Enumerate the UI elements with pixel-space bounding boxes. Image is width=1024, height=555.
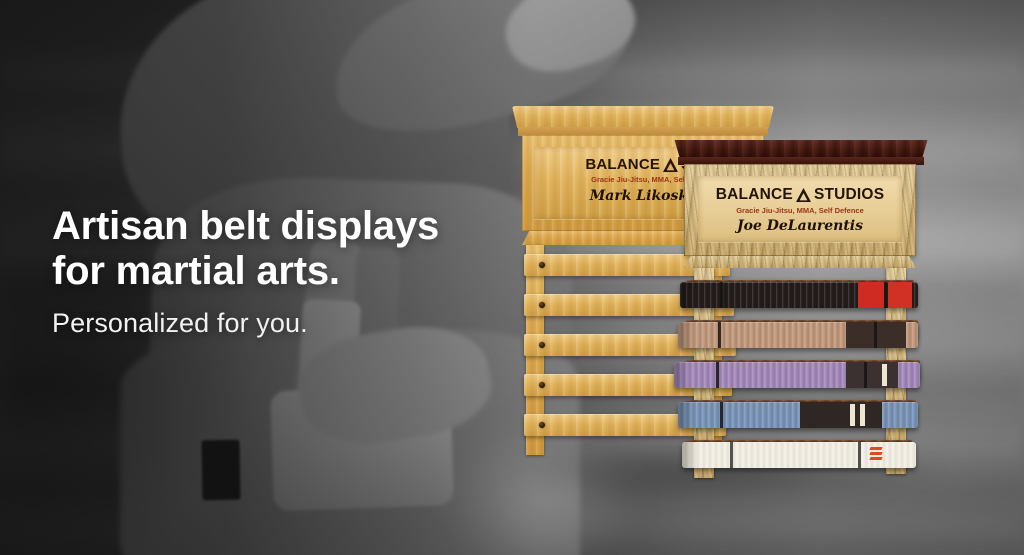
slat-peg — [539, 382, 545, 388]
belt-band — [858, 442, 861, 468]
belt-stripe — [860, 404, 865, 426]
plaque-brand-before: BALANCE — [716, 186, 793, 204]
belt-stripe — [882, 364, 887, 386]
belt-fold — [680, 282, 696, 308]
belt-band — [720, 402, 723, 428]
plaque-tagline: Gracie Jiu-Jitsu, MMA, Self Defence — [698, 206, 902, 215]
plaque-brand-before: BALANCE — [585, 156, 660, 173]
belt-tip — [800, 402, 882, 428]
belt-brand-logo-icon — [870, 447, 882, 462]
slat-peg — [539, 422, 545, 428]
product-group: BALANCE ST Gracie Jiu-Jitsu, MMA, Self D… — [0, 0, 1024, 555]
belt-band — [864, 362, 867, 388]
spalted-maple-walnut-belt-display[interactable]: BALANCE STUDIOS Gracie Jiu-Jitsu, MMA, S… — [672, 140, 932, 485]
belt-fold — [682, 442, 698, 468]
slat-peg — [539, 262, 545, 268]
plaque-brand-after: STUDIOS — [814, 186, 884, 204]
plaque-foot — [684, 256, 916, 268]
plaque-face: BALANCE STUDIOS Gracie Jiu-Jitsu, MMA, S… — [698, 176, 902, 242]
belt-weave — [678, 402, 918, 428]
belt-band — [884, 282, 887, 308]
belt-fold — [678, 402, 694, 428]
belt-black[interactable] — [680, 282, 918, 308]
belt-band — [730, 442, 733, 468]
plaque-brand: BALANCE STUDIOS — [698, 186, 902, 204]
belt-band — [874, 322, 877, 348]
slat-peg — [539, 302, 545, 308]
belt-tip — [846, 362, 898, 388]
plaque-signature: Joe DeLaurentis — [698, 218, 902, 234]
belt-band — [720, 282, 723, 308]
triangle-logo-icon — [796, 188, 811, 202]
belt-fold — [674, 362, 690, 388]
belt-tip — [888, 282, 912, 308]
belt-tip — [858, 282, 884, 308]
belt-band — [718, 322, 721, 348]
crown-molding — [672, 140, 930, 158]
belt-fold — [678, 322, 694, 348]
belt-white[interactable] — [682, 442, 916, 468]
belt-purple[interactable] — [674, 362, 920, 388]
crown-molding — [512, 106, 774, 128]
belt-band — [716, 362, 719, 388]
belt-brown[interactable] — [678, 322, 918, 348]
belt-stripe — [850, 404, 855, 426]
belt-blue[interactable] — [678, 402, 918, 428]
hero-banner: Artisan belt displays for martial arts. … — [0, 0, 1024, 555]
slat-peg — [539, 342, 545, 348]
